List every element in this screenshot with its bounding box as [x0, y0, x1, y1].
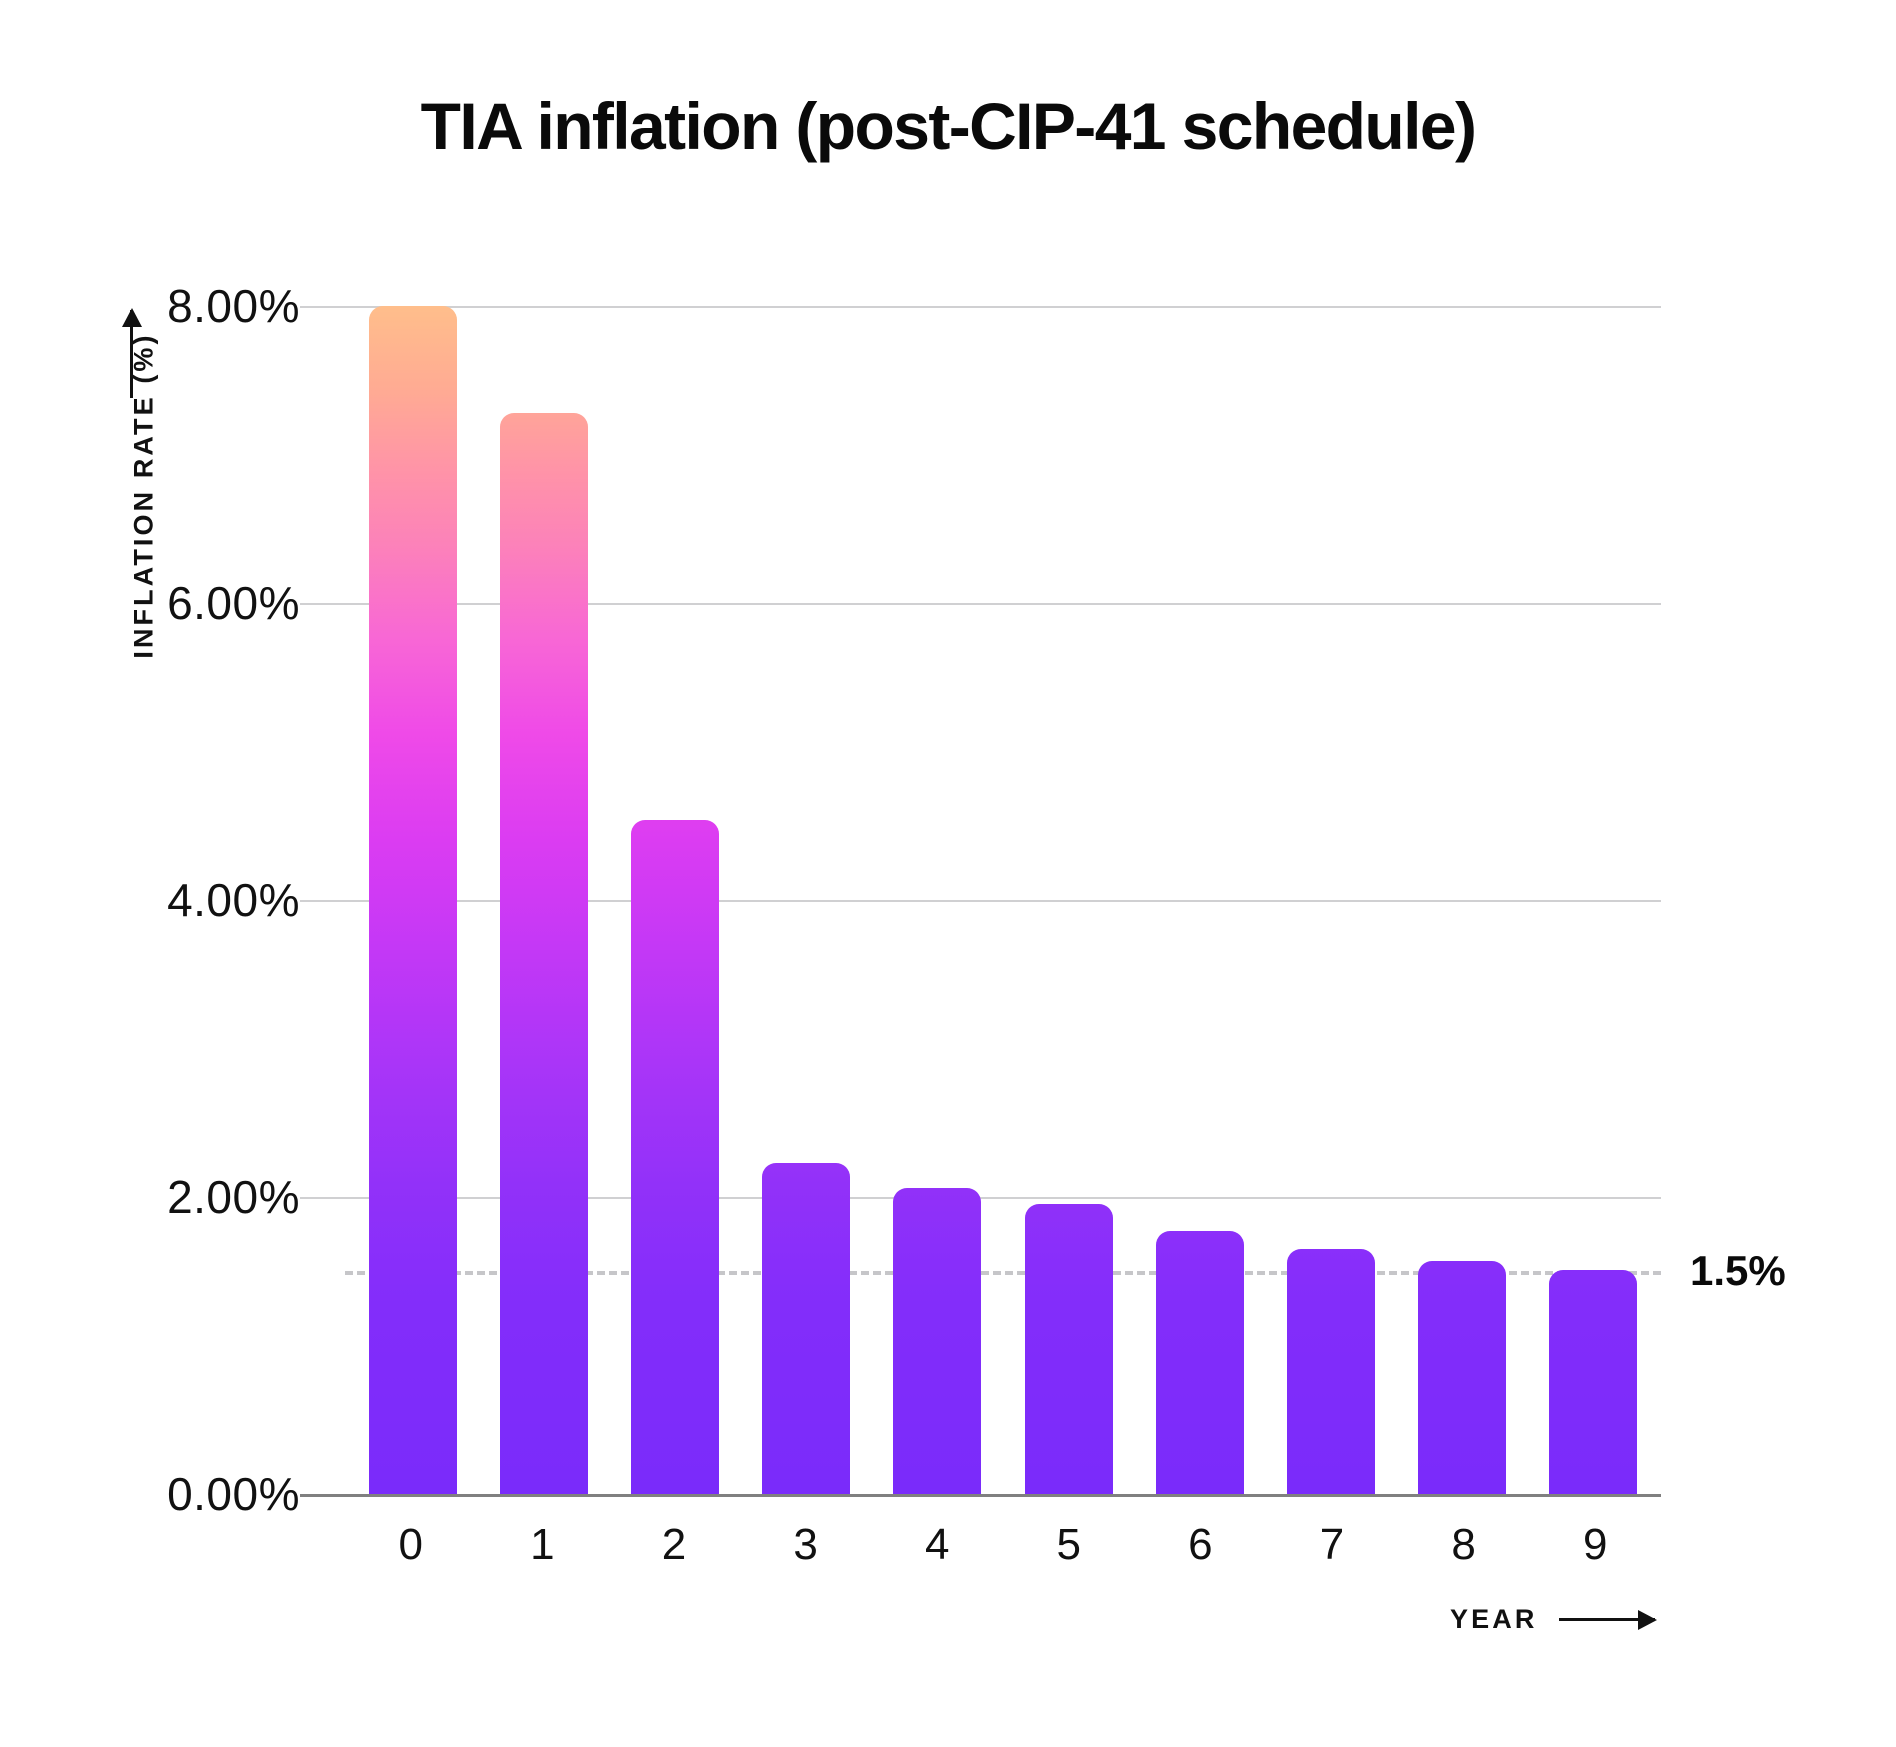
bar[interactable] [369, 306, 457, 1494]
bar-gradient-fill [893, 1188, 981, 1494]
x-tick-label: 5 [1057, 1520, 1081, 1570]
x-tick-label: 8 [1451, 1520, 1475, 1570]
x-tick-label: 7 [1320, 1520, 1344, 1570]
bar-gradient-fill [631, 820, 719, 1494]
bar-slot [1265, 306, 1396, 1494]
x-tick-label: 1 [530, 1520, 554, 1570]
y-tick-mark [300, 603, 345, 605]
x-tick-label: 3 [793, 1520, 817, 1570]
bar-slot [741, 306, 872, 1494]
bar-slot [478, 306, 609, 1494]
bar-gradient-fill [762, 1163, 850, 1494]
bar[interactable] [1549, 1270, 1637, 1494]
bar-gradient-fill [1025, 1204, 1113, 1494]
y-tick-mark [300, 1494, 345, 1497]
x-axis-label: YEAR [1450, 1604, 1537, 1635]
y-tick-label: 6.00% [167, 576, 300, 630]
y-tick-label: 4.00% [167, 873, 300, 927]
bar-slot [872, 306, 1003, 1494]
y-tick-label: 0.00% [167, 1467, 300, 1521]
y-axis-label-group: INFLATION RATE (%) [104, 300, 174, 780]
bar[interactable] [893, 1188, 981, 1494]
x-tick-label: 9 [1583, 1520, 1607, 1570]
axis-baseline [345, 1494, 1661, 1497]
bar-gradient-fill [1156, 1231, 1244, 1494]
x-tick-label: 0 [399, 1520, 423, 1570]
bar-slot [1397, 306, 1528, 1494]
y-tick-label: 2.00% [167, 1170, 300, 1224]
bar-slot [1134, 306, 1265, 1494]
bar-gradient-fill [500, 413, 588, 1494]
bar[interactable] [762, 1163, 850, 1494]
reference-line-label: 1.5% [1690, 1247, 1786, 1295]
bar-gradient-fill [369, 306, 457, 1494]
bar-gradient-fill [1418, 1261, 1506, 1494]
x-tick-label: 6 [1188, 1520, 1212, 1570]
y-tick-mark [300, 900, 345, 902]
bar-slot [609, 306, 740, 1494]
x-tick-label: 2 [662, 1520, 686, 1570]
y-tick-mark [300, 306, 345, 308]
bar[interactable] [631, 820, 719, 1494]
plot-area [345, 306, 1661, 1494]
bar-slot [1003, 306, 1134, 1494]
bar[interactable] [1287, 1249, 1375, 1494]
y-axis-label: INFLATION RATE (%) [129, 286, 160, 706]
bar[interactable] [500, 413, 588, 1494]
bar-slot [1528, 306, 1659, 1494]
bar[interactable] [1418, 1261, 1506, 1494]
y-tick-mark [300, 1197, 345, 1199]
bar[interactable] [1025, 1204, 1113, 1494]
chart-container: TIA inflation (post-CIP-41 schedule) INF… [0, 0, 1896, 1747]
x-axis-label-group: YEAR [1450, 1604, 1655, 1635]
bar-series [345, 306, 1661, 1494]
bar-gradient-fill [1549, 1270, 1637, 1494]
y-tick-label: 8.00% [167, 279, 300, 333]
x-axis-arrow-icon [1559, 1618, 1655, 1621]
bar-slot [347, 306, 478, 1494]
bar-gradient-fill [1287, 1249, 1375, 1494]
chart-title: TIA inflation (post-CIP-41 schedule) [0, 88, 1896, 164]
bar[interactable] [1156, 1231, 1244, 1494]
x-tick-label: 4 [925, 1520, 949, 1570]
